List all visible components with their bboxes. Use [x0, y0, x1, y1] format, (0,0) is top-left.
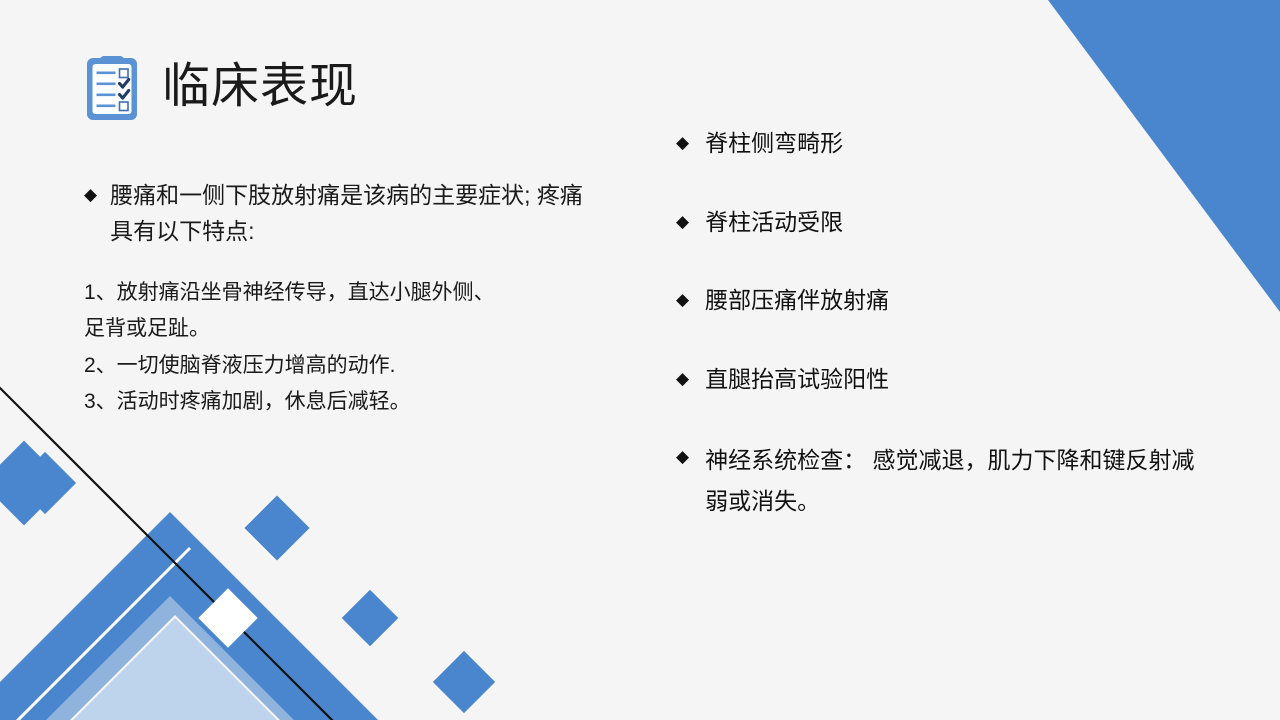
bullet-text: 腰部压痛伴放射痛: [705, 283, 1216, 318]
lead-bullet-text: 腰痛和一侧下肢放射痛是该病的主要症状; 疼痛具有以下特点:: [110, 178, 604, 249]
bullet-diamond-icon: ◆: [84, 178, 97, 211]
list-item: 2、一切使脑脊液压力增高的动作.: [84, 348, 604, 384]
list-item: ◆ 直腿抬高试验阳性: [676, 362, 1216, 397]
list-item: ◆ 脊柱活动受限: [676, 205, 1216, 240]
chevron-light: [0, 618, 462, 720]
bullet-diamond-icon: ◆: [676, 205, 689, 239]
list-item: 3、活动时疼痛加剧，休息后减轻。: [84, 384, 604, 420]
bullet-diamond-icon: ◆: [676, 283, 689, 317]
diamond-c: [342, 590, 399, 647]
right-content-column: ◆ 脊柱侧弯畸形 ◆ 脊柱活动受限 ◆ 腰部压痛伴放射痛 ◆ 直腿抬高试验阳性 …: [676, 126, 1216, 522]
slide-header: 临床表现: [84, 52, 358, 122]
chevron-dark: [0, 512, 540, 720]
diamond-b: [244, 495, 309, 560]
slide-canvas: 临床表现 ◆ 腰痛和一侧下肢放射痛是该病的主要症状; 疼痛具有以下特点: 1、放…: [0, 0, 1280, 720]
bullet-diamond-icon: ◆: [676, 362, 689, 396]
list-item: ◆ 脊柱侧弯畸形: [676, 126, 1216, 161]
left-content-column: ◆ 腰痛和一侧下肢放射痛是该病的主要症状; 疼痛具有以下特点: 1、放射痛沿坐骨…: [84, 178, 604, 420]
clipboard-checklist-icon: [84, 52, 140, 122]
list-item: ◆ 腰部压痛伴放射痛: [676, 283, 1216, 318]
bullet-text: 直腿抬高试验阳性: [705, 362, 1216, 397]
diamond-1: [0, 441, 66, 526]
bullet-diamond-icon: ◆: [676, 440, 689, 474]
list-item: ◆ 神经系统检查： 感觉减退，肌力下降和键反射减弱或消失。: [676, 440, 1216, 522]
bullet-text: 神经系统检查： 感觉减退，肌力下降和键反射减弱或消失。: [705, 440, 1216, 522]
list-item: 1、放射痛沿坐骨神经传导，直达小腿外侧、 足背或足趾。: [84, 275, 604, 347]
white-accent-line: [0, 548, 190, 720]
bullet-text: 脊柱活动受限: [705, 205, 1216, 240]
lead-bullet: ◆ 腰痛和一侧下肢放射痛是该病的主要症状; 疼痛具有以下特点:: [84, 178, 604, 249]
bullet-text: 脊柱侧弯畸形: [705, 126, 1216, 161]
bullet-diamond-icon: ◆: [676, 126, 689, 160]
diamond-d: [433, 651, 495, 713]
numbered-list: 1、放射痛沿坐骨神经传导，直达小腿外侧、 足背或足趾。 2、一切使脑脊液压力增高…: [84, 275, 604, 419]
diamond-a: [14, 452, 76, 514]
chevron-medium: [0, 570, 500, 720]
diamond-white: [198, 588, 257, 647]
black-diagonal-line: [0, 380, 334, 720]
page-title: 临床表现: [162, 62, 358, 112]
